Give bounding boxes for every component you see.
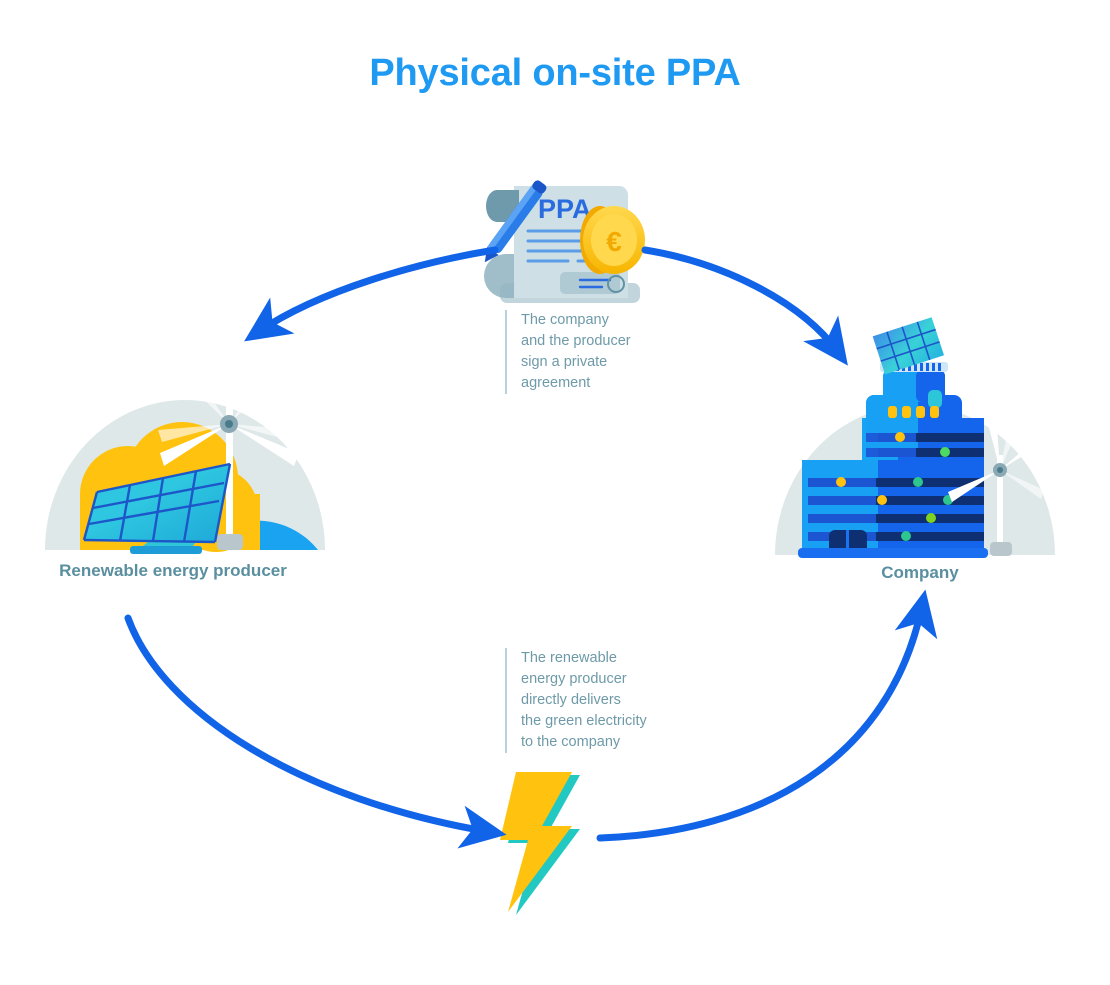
caption-delivery-line: directly delivers — [521, 690, 696, 711]
node-ppa-document-illustration: PPA — [479, 179, 645, 303]
arrow-ppa-to-producer — [258, 250, 495, 332]
diagram-canvas: Physical on-site PPA — [0, 0, 1110, 985]
ppa-document-title: PPA — [538, 194, 592, 224]
diagram-graphics: PPA — [0, 0, 1110, 985]
caption-agreement-line: and the producer — [521, 331, 681, 352]
euro-coin-icon: € — [580, 206, 645, 274]
caption-agreement-line: The company — [521, 310, 681, 331]
svg-text:€: € — [606, 226, 622, 257]
caption-agreement: The company and the producer sign a priv… — [505, 310, 681, 394]
arrow-producer-to-electricity — [128, 618, 490, 832]
caption-delivery-line: The renewable — [521, 648, 696, 669]
caption-delivery-line: energy producer — [521, 669, 696, 690]
caption-agreement-line: agreement — [521, 373, 681, 394]
node-renewable-producer-illustration — [45, 348, 325, 554]
caption-agreement-line: sign a private — [521, 352, 681, 373]
node-label-renewable-producer: Renewable energy producer — [48, 560, 298, 583]
caption-delivery-line: the green electricity — [521, 711, 696, 732]
caption-delivery: The renewable energy producer directly d… — [505, 648, 696, 753]
caption-delivery-line: to the company — [521, 732, 696, 753]
node-company-illustration — [775, 317, 1055, 558]
node-electricity-illustration — [500, 772, 580, 915]
node-label-company: Company — [810, 562, 1030, 585]
